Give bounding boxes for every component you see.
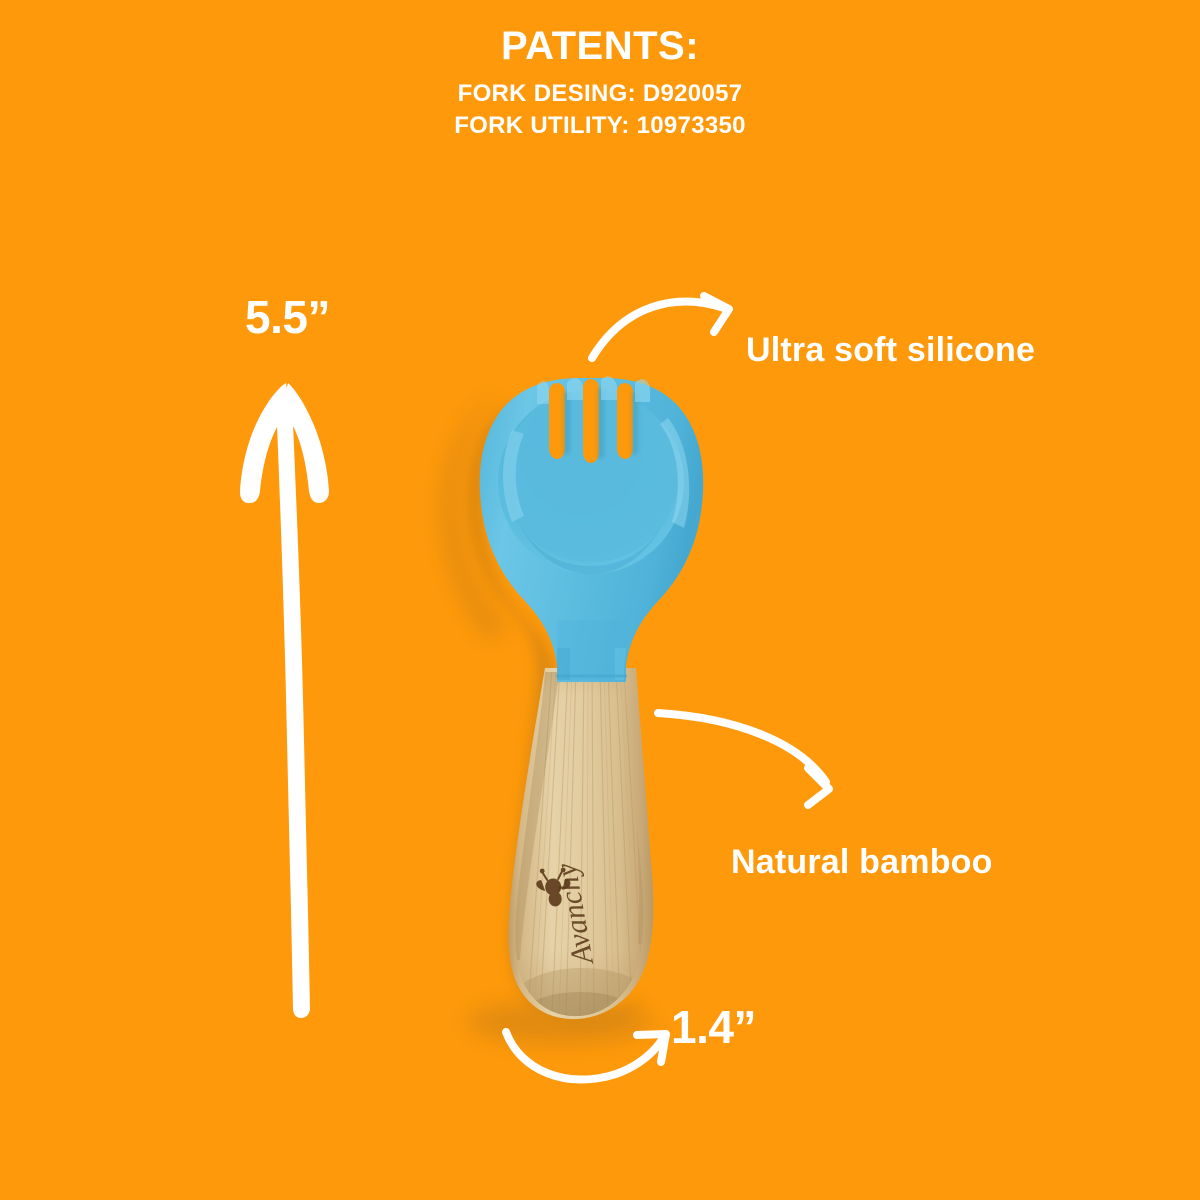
silicone-spork-head (480, 376, 703, 684)
bamboo-handle: Avanchy (505, 660, 655, 1036)
tine-slot-2 (583, 379, 599, 463)
dimension-label-length: 5.5” (245, 290, 330, 344)
tine-slot-1 (549, 383, 565, 459)
dimension-label-width: 1.4” (671, 1000, 756, 1054)
callout-label-silicone: Ultra soft silicone (746, 331, 1035, 370)
tine-slot-3 (617, 383, 633, 459)
product-infographic: Avanchy (0, 0, 1200, 1200)
patents-title: PATENTS: (0, 26, 1200, 66)
patents-block: PATENTS: FORK DESING: D920057 FORK UTILI… (0, 26, 1200, 143)
patent-line-fork-utility: FORK UTILITY: 10973350 (0, 110, 1200, 142)
patent-line-fork-design: FORK DESING: D920057 (0, 78, 1200, 110)
callout-label-bamboo: Natural bamboo (731, 843, 993, 882)
product-illustration: Avanchy (0, 0, 1200, 1200)
